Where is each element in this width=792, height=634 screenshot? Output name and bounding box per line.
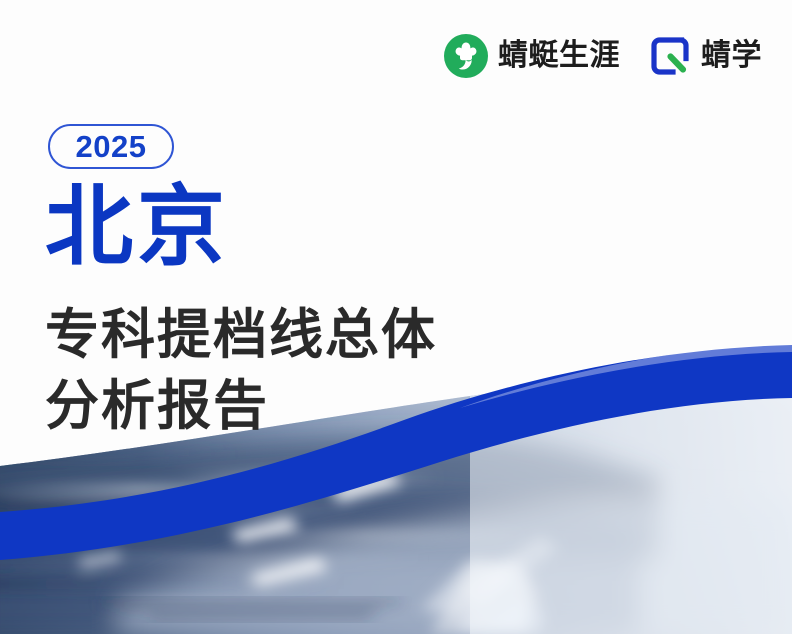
qingting-career-logo[interactable]: 蜻蜓生涯 — [443, 33, 620, 79]
brand-logo-bar: 蜻蜓生涯 蜻学 — [443, 33, 762, 79]
qingxue-logo-text: 蜻学 — [701, 41, 762, 71]
dragonfly-leaf-circle-icon — [443, 33, 489, 79]
qingting-career-logo-text: 蜻蜓生涯 — [498, 41, 620, 71]
q-rounded-square-icon — [648, 34, 692, 78]
page-subtitle: 专科提档线总体 分析报告 — [45, 300, 437, 443]
year-badge-label: 2025 — [76, 131, 147, 162]
page-title-region: 北京 — [45, 183, 229, 271]
page-subtitle-line-2: 分析报告 — [45, 371, 437, 442]
year-badge: 2025 — [48, 124, 174, 169]
report-cover-poster: 蜻蜓生涯 蜻学 2025 北京 专科提档线总体 分析报告 — [0, 0, 792, 634]
page-subtitle-line-1: 专科提档线总体 — [45, 300, 437, 371]
qingxue-logo[interactable]: 蜻学 — [648, 34, 762, 78]
